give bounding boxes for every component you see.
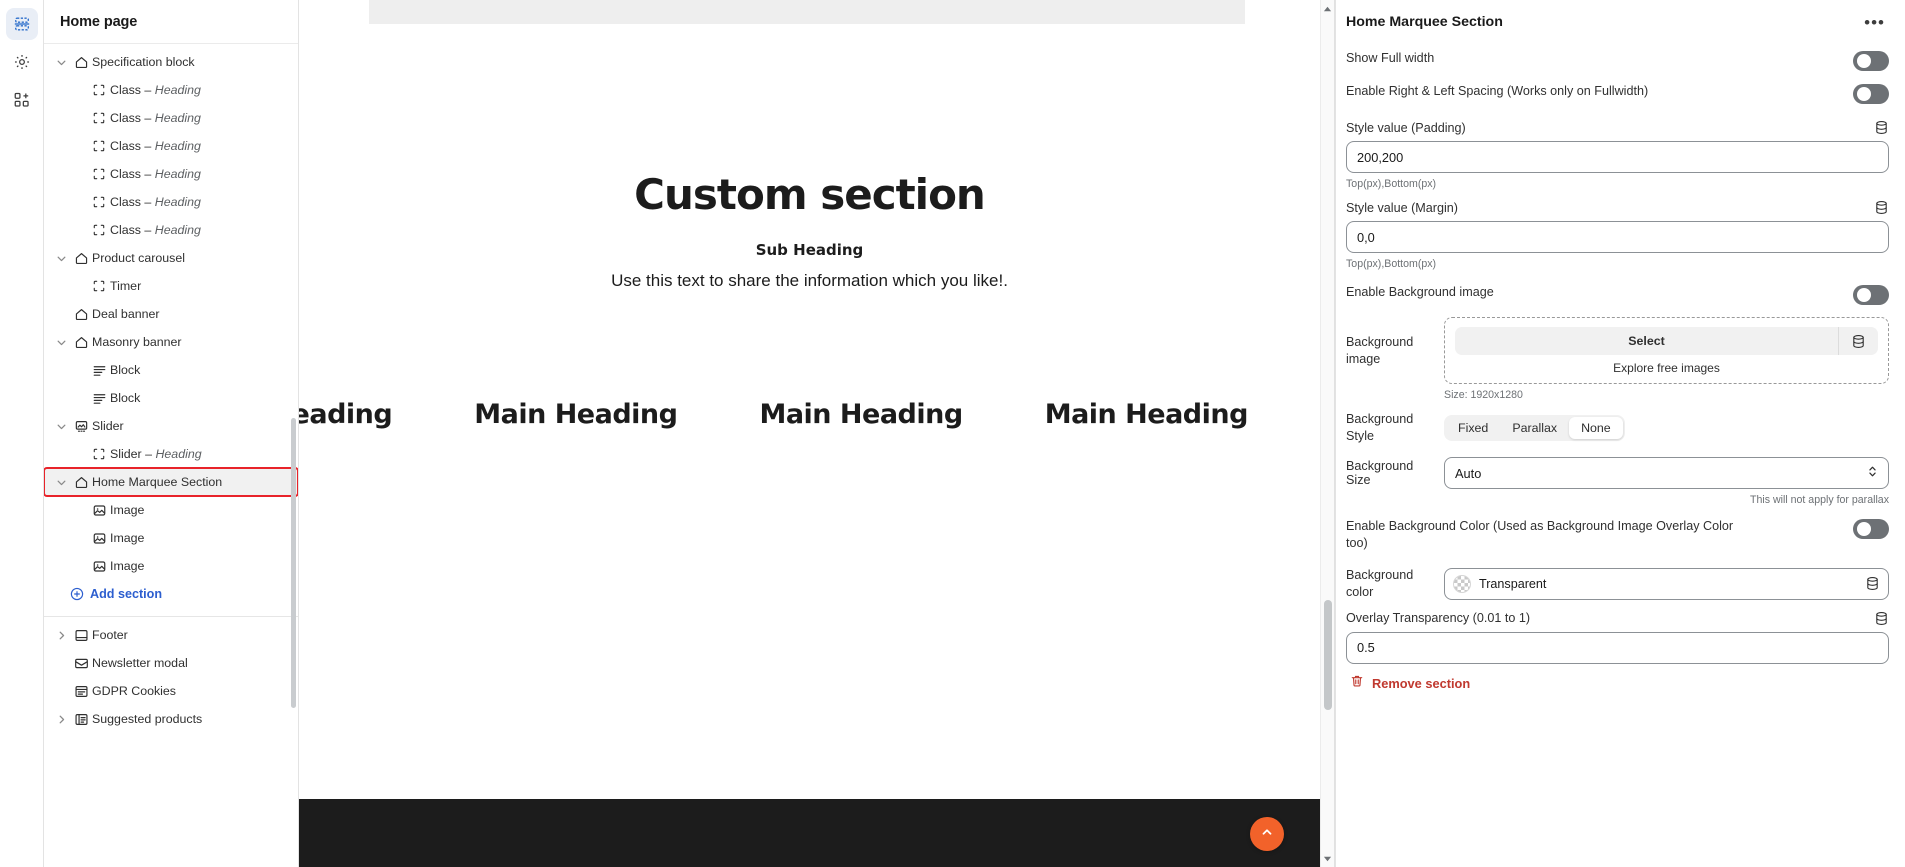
background-image-label: Background image (1346, 334, 1432, 368)
margin-input[interactable] (1346, 221, 1889, 253)
tree-item-label: Image (110, 531, 144, 545)
tree-item-slider[interactable]: Slider – Heading (44, 440, 298, 468)
background-style-row: Background Style FixedParallaxNone (1346, 411, 1889, 445)
tree-item-label: Suggested products (92, 712, 202, 726)
footer-icon (70, 628, 92, 643)
background-image-row: Background image Select Explore free ima… (1346, 317, 1889, 384)
background-size-select[interactable]: Auto (1444, 457, 1889, 489)
home-icon (70, 475, 92, 490)
tree-item-label: Block (110, 363, 140, 377)
marquee-heading: Main Heading (299, 399, 392, 430)
tree-item-label: Deal banner (92, 307, 160, 321)
enable-bg-image-label: Enable Background image (1346, 284, 1494, 301)
cookies-icon (70, 684, 92, 699)
background-color-database-icon[interactable] (1865, 576, 1880, 591)
marquee-heading: Main Heading (759, 399, 962, 430)
background-size-label: Background Size (1346, 459, 1432, 487)
image-icon (88, 531, 110, 546)
scrollbar-up-arrow-icon[interactable] (1321, 2, 1334, 16)
tree-item-label: Product carousel (92, 251, 185, 265)
block-icon (88, 139, 110, 153)
background-style-label: Background Style (1346, 411, 1432, 445)
tree-item-label-italic: Heading (155, 447, 201, 461)
tree-item-label: Image (110, 559, 144, 573)
tree-item-label-italic: Heading (155, 83, 201, 97)
chevron-updown-icon (1867, 465, 1878, 481)
block-icon (88, 447, 110, 461)
tree-item-label: Footer (92, 628, 128, 642)
show-full-width-toggle[interactable] (1853, 51, 1889, 71)
padding-input[interactable] (1346, 141, 1889, 173)
preview-canvas: Custom section Sub Heading Use this text… (299, 0, 1335, 867)
tree-item-product-carousel[interactable]: Product carousel (44, 244, 298, 272)
right-left-spacing-toggle[interactable] (1853, 84, 1889, 104)
custom-section-title: Custom section (299, 170, 1320, 219)
home-icon (70, 335, 92, 350)
tree-item-masonry-banner[interactable]: Masonry banner (44, 328, 298, 356)
tree-item-label-italic: Heading (155, 223, 201, 237)
more-options-icon[interactable]: ••• (1860, 12, 1889, 33)
tree-item-label: GDPR Cookies (92, 684, 176, 698)
tree-item-timer[interactable]: Timer (44, 272, 298, 300)
tree-item-label-italic: Heading (155, 195, 201, 209)
block-icon (88, 195, 110, 209)
custom-section-block: Custom section Sub Heading Use this text… (299, 170, 1320, 291)
overlay-transparency-label: Overlay Transparency (0.01 to 1) (1346, 611, 1530, 625)
overlay-transparency-label-row: Overlay Transparency (0.01 to 1) (1346, 611, 1889, 626)
chevron-down-icon[interactable] (52, 252, 70, 265)
products-icon (70, 712, 92, 727)
section-settings-panel: Home Marquee Section ••• Show Full width… (1335, 0, 1905, 867)
text-lines-icon (88, 363, 110, 378)
margin-hint: Top(px),Bottom(px) (1346, 258, 1889, 270)
tree-item-label: Class – Heading (110, 223, 201, 237)
background-color-value: Transparent (1479, 577, 1857, 591)
home-icon (70, 55, 92, 70)
tree-item-class[interactable]: Class – Heading (44, 132, 298, 160)
preview-top-strip (369, 0, 1245, 24)
sidebar-header: Home page (44, 0, 298, 44)
tree-item-label: Newsletter modal (92, 656, 188, 670)
page-title: Home page (60, 14, 137, 30)
background-size-row: Background Size Auto (1346, 457, 1889, 489)
settings-title: Home Marquee Section (1346, 14, 1503, 30)
margin-label-row: Style value (Margin) (1346, 200, 1889, 215)
tree-item-label: Image (110, 503, 144, 517)
tree-item-label: Class – Heading (110, 83, 201, 97)
marquee-heading: Main Heading (474, 399, 677, 430)
enable-bg-color-row: Enable Background Color (Used as Backgro… (1346, 512, 1889, 559)
color-swatch-icon (1453, 575, 1471, 593)
chevron-up-icon (1260, 825, 1274, 844)
trash-icon (1350, 674, 1364, 693)
marquee-track: Main HeadingMain HeadingMain HeadingMain… (299, 399, 1320, 430)
tree-item-class[interactable]: Class – Heading (44, 160, 298, 188)
overlay-transparency-database-icon[interactable] (1874, 611, 1889, 626)
toggle-knob (1857, 87, 1871, 101)
tree-item-label: Timer (110, 279, 141, 293)
padding-label-row: Style value (Padding) (1346, 120, 1889, 135)
rail-settings-button[interactable] (6, 46, 38, 78)
chevron-down-icon[interactable] (52, 56, 70, 69)
chevron-down-icon[interactable] (52, 476, 70, 489)
block-icon (88, 223, 110, 237)
toggle-knob (1857, 54, 1871, 68)
background-color-label: Background color (1346, 567, 1432, 601)
preview-scrollbar[interactable] (1320, 0, 1334, 867)
tree-item-newsletter-modal[interactable]: Newsletter modal (44, 649, 298, 677)
select-image-button[interactable]: Select (1455, 327, 1838, 355)
background-image-size-note: Size: 1920x1280 (1444, 389, 1889, 401)
text-lines-icon (88, 391, 110, 406)
section-tree-scroll[interactable]: Specification blockClass – HeadingClass … (44, 44, 298, 867)
overlay-transparency-input[interactable] (1346, 632, 1889, 664)
tree-item-label-italic: Heading (155, 139, 201, 153)
left-icon-rail (0, 0, 44, 867)
block-icon (88, 111, 110, 125)
enable-bg-image-row: Enable Background image (1346, 278, 1889, 311)
marquee-heading: Main Heading (1045, 399, 1248, 430)
tree-item-deal-banner[interactable]: Deal banner (44, 300, 298, 328)
show-full-width-label: Show Full width (1346, 50, 1434, 67)
custom-section-body: Use this text to share the information w… (299, 271, 1320, 291)
tree-item-footer[interactable]: Footer (44, 621, 298, 649)
toggle-knob (1857, 288, 1871, 302)
tree-item-image[interactable]: Image (44, 524, 298, 552)
margin-label: Style value (Margin) (1346, 201, 1458, 215)
tree-item-label-italic: Heading (155, 167, 201, 181)
background-image-select-group: Select (1455, 327, 1878, 355)
slideshow-icon (70, 419, 92, 434)
tree-item-class[interactable]: Class – Heading (44, 76, 298, 104)
section-tree-sidebar: Home page Specification blockClass – Hea… (44, 0, 299, 867)
toggle-knob (1857, 522, 1871, 536)
background-color-picker[interactable]: Transparent (1444, 568, 1889, 600)
block-icon (88, 279, 110, 293)
padding-hint: Top(px),Bottom(px) (1346, 178, 1889, 190)
right-left-spacing-label: Enable Right & Left Spacing (Works only … (1346, 83, 1648, 100)
background-style-segmented-control[interactable]: FixedParallaxNone (1444, 415, 1625, 441)
padding-database-icon[interactable] (1874, 120, 1889, 135)
background-color-row: Background color Transparent (1346, 567, 1889, 601)
tree-item-gdpr-cookies[interactable]: GDPR Cookies (44, 677, 298, 705)
enable-bg-color-label: Enable Background Color (Used as Backgro… (1346, 518, 1746, 553)
tree-item-label: Home Marquee Section (92, 475, 222, 489)
rail-sections-button[interactable] (6, 8, 38, 40)
tree-item-label: Slider – Heading (110, 447, 202, 461)
background-style-option-none[interactable]: None (1569, 417, 1623, 439)
plus-circle-icon (70, 587, 84, 601)
tree-item-label: Class – Heading (110, 111, 201, 125)
footer-section-list: FooterNewsletter modalGDPR CookiesSugges… (44, 621, 298, 733)
sections-icon (13, 15, 31, 33)
remove-section-button[interactable]: Remove section (1346, 664, 1889, 693)
background-style-option-parallax[interactable]: Parallax (1500, 417, 1569, 439)
block-icon (88, 167, 110, 181)
tree-item-label-italic: Heading (155, 111, 201, 125)
tree-item-class[interactable]: Class – Heading (44, 216, 298, 244)
tree-item-label: Specification block (92, 55, 195, 69)
image-icon (88, 503, 110, 518)
add-section-button[interactable]: Add section (44, 580, 298, 608)
tree-item-suggested-products[interactable]: Suggested products (44, 705, 298, 733)
home-marquee-section[interactable]: Main HeadingMain HeadingMain HeadingMain… (299, 392, 1320, 436)
show-full-width-row: Show Full width (1346, 44, 1889, 77)
tree-item-label: Class – Heading (110, 167, 201, 181)
tree-item-label: Block (110, 391, 140, 405)
home-icon (70, 251, 92, 266)
tree-item-label: Class – Heading (110, 139, 201, 153)
modal-icon (70, 656, 92, 671)
padding-label: Style value (Padding) (1346, 121, 1466, 135)
background-size-note: This will not apply for parallax (1346, 494, 1889, 506)
chevron-right-icon[interactable] (52, 713, 70, 726)
tree-item-label: Slider (92, 419, 124, 433)
chevron-right-icon[interactable] (52, 629, 70, 642)
tree-item-label: Class – Heading (110, 195, 201, 209)
tree-item-image[interactable]: Image (44, 496, 298, 524)
scroll-to-top-button[interactable] (1250, 817, 1284, 851)
tree-item-class[interactable]: Class – Heading (44, 104, 298, 132)
chevron-down-icon[interactable] (52, 420, 70, 433)
background-image-dropzone[interactable]: Select Explore free images (1444, 317, 1889, 384)
preview-footer-bar (299, 799, 1320, 867)
background-style-option-fixed[interactable]: Fixed (1446, 417, 1500, 439)
remove-section-label: Remove section (1372, 676, 1470, 691)
tree-item-home-marquee-section[interactable]: Home Marquee Section (44, 468, 298, 496)
chevron-down-icon[interactable] (52, 336, 70, 349)
custom-section-subheading: Sub Heading (299, 241, 1320, 259)
tree-item-block[interactable]: Block (44, 384, 298, 412)
explore-free-images-link[interactable]: Explore free images (1613, 361, 1720, 375)
tree-item-label: Masonry banner (92, 335, 182, 349)
apps-add-icon (13, 91, 31, 109)
settings-body: Show Full width Enable Right & Left Spac… (1336, 44, 1905, 867)
right-left-spacing-row: Enable Right & Left Spacing (Works only … (1346, 77, 1889, 110)
preview-scrollbar-thumb[interactable] (1324, 600, 1332, 710)
home-icon (70, 307, 92, 322)
image-icon (88, 559, 110, 574)
enable-bg-color-toggle[interactable] (1853, 519, 1889, 539)
rail-apps-button[interactable] (6, 84, 38, 116)
select-image-database-icon[interactable] (1838, 327, 1878, 355)
background-size-value: Auto (1455, 466, 1481, 481)
tree-item-block[interactable]: Block (44, 356, 298, 384)
add-section-label: Add section (90, 587, 162, 601)
settings-header: Home Marquee Section ••• (1336, 0, 1905, 44)
tree-item-class[interactable]: Class – Heading (44, 188, 298, 216)
tree-divider (44, 616, 298, 617)
settings-gear-icon (13, 53, 31, 71)
margin-database-icon[interactable] (1874, 200, 1889, 215)
scrollbar-down-arrow-icon[interactable] (1321, 851, 1334, 865)
tree-item-slider[interactable]: Slider (44, 412, 298, 440)
enable-bg-image-toggle[interactable] (1853, 285, 1889, 305)
section-tree-list: Specification blockClass – HeadingClass … (44, 48, 298, 580)
store-preview-frame[interactable]: Custom section Sub Heading Use this text… (299, 0, 1320, 867)
sidebar-scrollbar-thumb[interactable] (291, 418, 296, 708)
tree-item-specification-block[interactable]: Specification block (44, 48, 298, 76)
tree-item-image[interactable]: Image (44, 552, 298, 580)
block-icon (88, 83, 110, 97)
